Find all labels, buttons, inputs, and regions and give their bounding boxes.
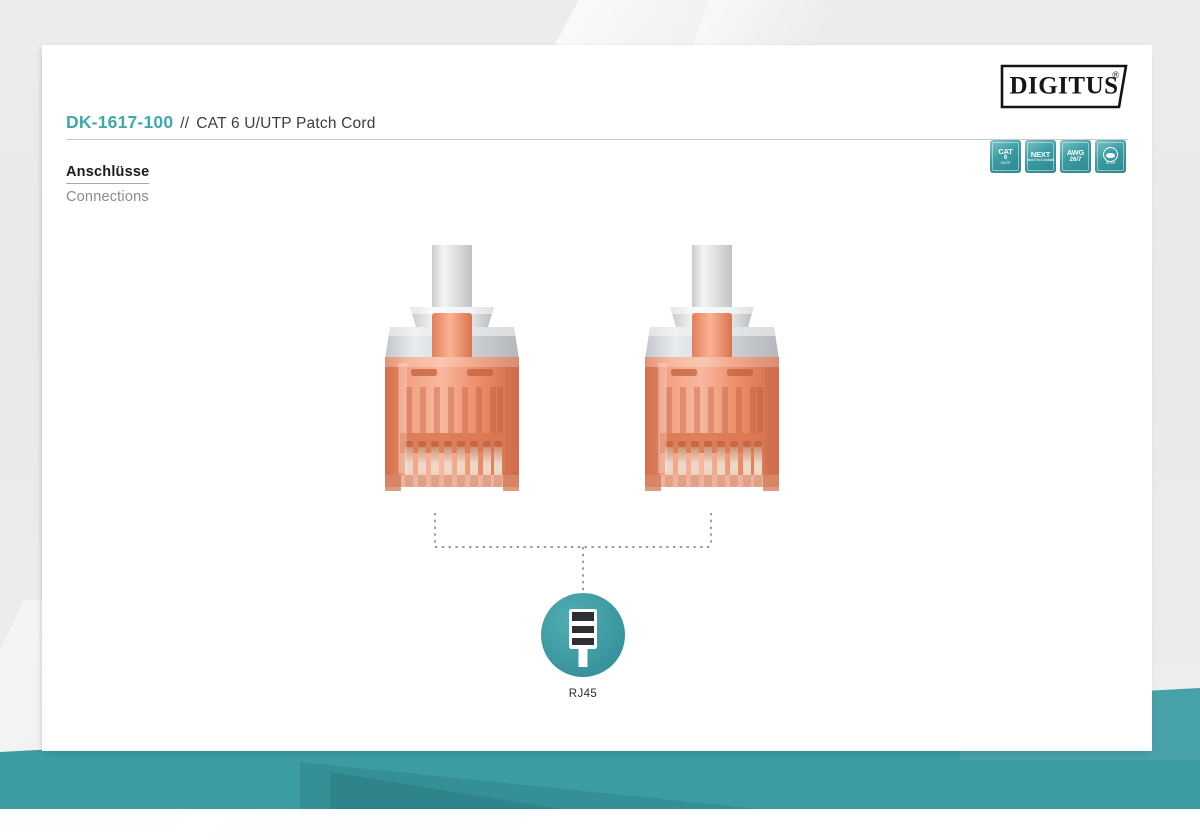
badge-line-2: 26/7 [1070,157,1082,163]
product-description: CAT 6 U/UTP Patch Cord [196,115,375,132]
rohs-ring-icon [1103,147,1118,162]
badge-line-3: ROHS [1106,162,1116,166]
cat6-badge: CAT 6 U/UTP [990,140,1021,173]
rj45-disc [541,593,625,677]
product-sheet-card: DIGITUS ® DK-1617-100//CAT 6 U/UTP Patch… [42,45,1152,751]
section-heading-de: Anschlüsse [66,164,149,184]
registered-mark: ® [1112,70,1119,80]
badge-line-1: AWG [1067,149,1084,157]
connection-diagram: RJ45 [42,195,1152,751]
logo-wordmark: DIGITUS [1000,72,1128,100]
title-divider [66,139,1128,140]
next-badge: NEXT Near End Crosstalk [1025,140,1056,173]
certification-badges: CAT 6 U/UTP NEXT Near End Crosstalk AWG … [990,140,1126,173]
digitus-logo: DIGITUS ® [1000,63,1128,110]
rohs-badge: ROHS [1095,140,1126,173]
awg-badge: AWG 26/7 [1060,140,1091,173]
page-title: DK-1617-100//CAT 6 U/UTP Patch Cord [66,112,1128,133]
rj45-port-icon [541,593,625,677]
badge-line-1: CAT [998,148,1012,156]
product-sku: DK-1617-100 [66,112,173,132]
badge-line-3: U/UTP [1001,162,1011,166]
rj45-plug-right [624,245,800,515]
rj45-callout: RJ45 [539,593,627,700]
badge-line-3: Near End Crosstalk [1027,159,1055,163]
product-separator: // [180,115,189,132]
rj45-plug-left [364,245,540,515]
rj45-label: RJ45 [539,688,627,700]
